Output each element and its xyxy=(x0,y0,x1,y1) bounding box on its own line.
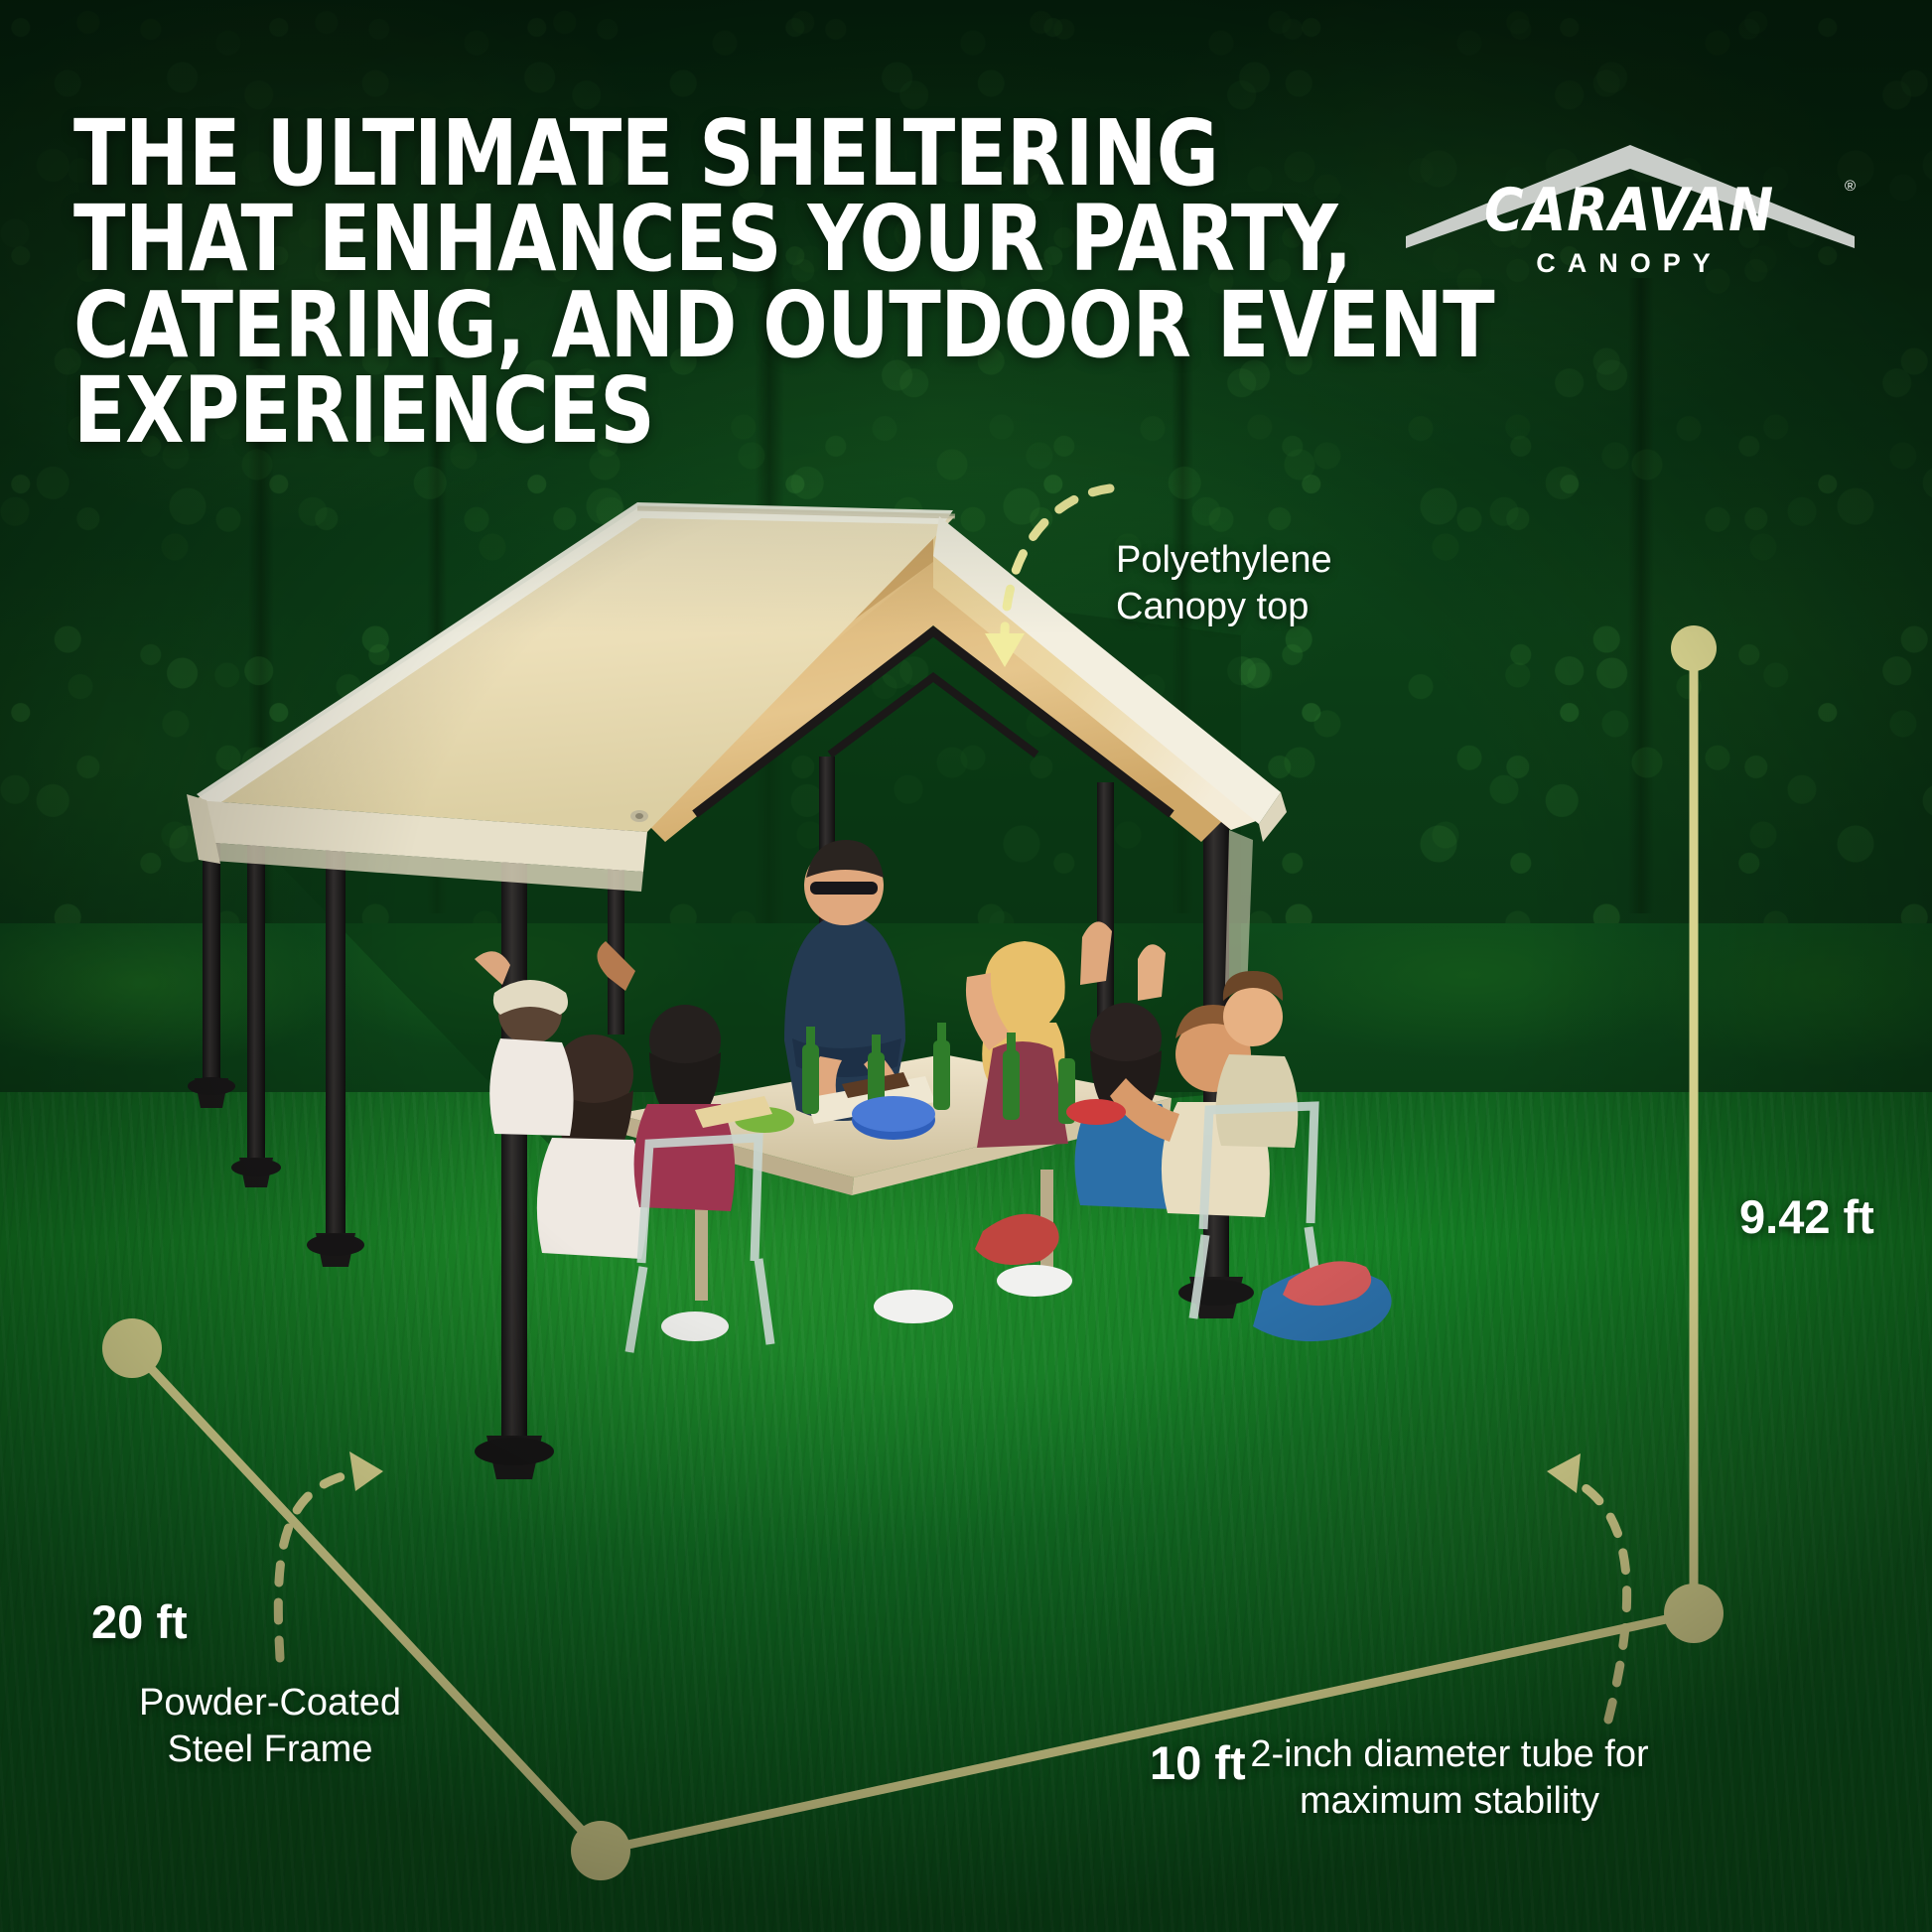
tube-leader-line xyxy=(1567,1477,1627,1720)
page-title: THE ULTIMATE SHELTERING THAT ENHANCES YO… xyxy=(73,111,1080,455)
dimension-label-depth: 10 ft xyxy=(1150,1737,1246,1789)
callout-powder-coated-steel-frame: Powder-Coated Steel Frame xyxy=(91,1680,449,1773)
callout-poly-line-2: Canopy top xyxy=(1116,584,1444,630)
callout-powder-line-1: Powder-Coated xyxy=(91,1680,449,1726)
dimension-label-width: 20 ft xyxy=(91,1596,188,1648)
powder-coated-leader-line xyxy=(278,1471,367,1658)
width-dimension-line xyxy=(132,1348,601,1851)
polyethylene-leader-line xyxy=(1005,488,1110,643)
callout-polyethylene-canopy-top: Polyethylene Canopy top xyxy=(1116,537,1444,630)
logo-wordmark: CARAVAN xyxy=(1484,176,1774,245)
headline-line-4: EXPERIENCES xyxy=(73,368,1080,454)
dimension-node-dot xyxy=(1671,625,1717,671)
dimension-node-dot xyxy=(102,1318,162,1378)
dimension-node-dot xyxy=(1664,1584,1724,1643)
polyethylene-arrowhead xyxy=(985,633,1025,667)
logo-subname: CANOPY xyxy=(1536,248,1723,278)
headline-line-1: THE ULTIMATE SHELTERING xyxy=(73,111,1080,197)
powder-coated-arrowhead xyxy=(349,1451,383,1491)
headline-line-3: CATERING, AND OUTDOOR EVENT xyxy=(73,283,1080,368)
product-marketing-poster: THE ULTIMATE SHELTERING THAT ENHANCES YO… xyxy=(0,0,1932,1932)
dimension-label-height: 9.42 ft xyxy=(1739,1191,1874,1243)
logo-trademark: ® xyxy=(1845,178,1856,195)
headline-line-2: THAT ENHANCES YOUR PARTY, xyxy=(73,197,1080,282)
callout-powder-line-2: Steel Frame xyxy=(91,1726,449,1773)
dimension-node-dot xyxy=(571,1821,630,1880)
caravan-canopy-logo: CARAVAN ® CANOPY xyxy=(1396,125,1863,284)
callout-poly-line-1: Polyethylene xyxy=(1116,537,1444,584)
tube-arrowhead xyxy=(1547,1453,1581,1493)
